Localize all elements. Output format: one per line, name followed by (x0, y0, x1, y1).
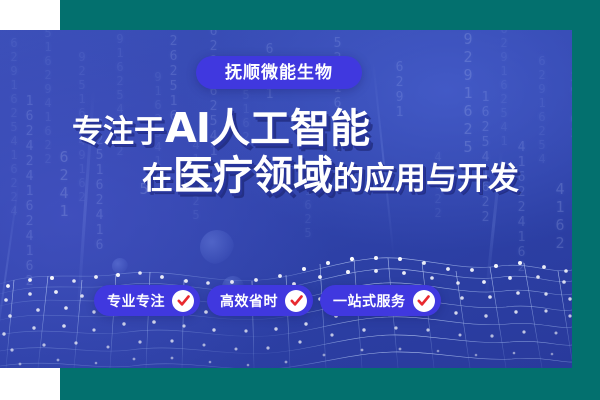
headline-line2-emphasis: 医疗领域 (173, 154, 333, 198)
headline: 专注于AI人工智能 在医疗领域的应用与开发 (0, 108, 572, 197)
check-icon (413, 290, 435, 312)
banner-content: 抚顺微能生物 专注于AI人工智能 在医疗领域的应用与开发 专业专注 (0, 30, 572, 368)
check-icon (285, 290, 307, 312)
banner-root: 6291625416224 1624241624162 5162941622 6… (0, 0, 600, 400)
brand-name-label: 抚顺微能生物 (225, 64, 333, 81)
feature-pill-professional[interactable]: 专业专注 (94, 285, 200, 316)
hero-banner: 6291625416224 1624241624162 5162941622 6… (0, 30, 572, 368)
headline-line2-prefix: 在 (142, 161, 173, 196)
feature-pill-efficient[interactable]: 高效省时 (207, 285, 313, 316)
brand-name-pill: 抚顺微能生物 (196, 56, 362, 89)
headline-line1-emphasis: 人工智能 (210, 107, 370, 151)
feature-pill-label: 一站式服务 (333, 294, 406, 308)
feature-pill-label: 高效省时 (220, 294, 278, 308)
headline-line-2: 在医疗领域的应用与开发 (0, 156, 572, 197)
feature-pill-label: 专业专注 (107, 294, 165, 308)
headline-line-1: 专注于AI人工智能 (0, 108, 572, 150)
feature-pill-row: 专业专注 高效省时 一站式服务 (94, 285, 441, 316)
headline-line2-suffix: 的应用与开发 (333, 161, 519, 196)
check-icon (172, 290, 194, 312)
headline-ai-text: AI (165, 104, 210, 152)
feature-pill-one-stop-service[interactable]: 一站式服务 (320, 285, 441, 316)
headline-line1-prefix: 专注于 (72, 114, 165, 149)
